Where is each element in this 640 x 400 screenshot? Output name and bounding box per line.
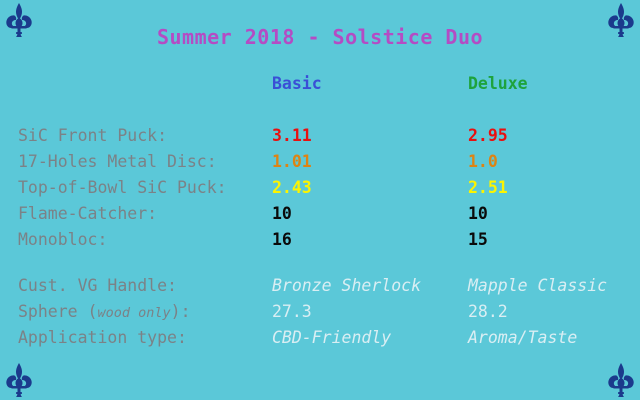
fleur-de-lis-icon (606, 362, 636, 398)
page-title: Summer 2018 - Solstice Duo (0, 25, 640, 49)
spec-row-label: Sphere (wood only): (18, 302, 272, 321)
row-label: Top-of-Bowl SiC Puck: (18, 178, 272, 197)
spec-value-deluxe: Mapple Classic (468, 276, 640, 295)
table-row: Top-of-Bowl SiC Puck: 2.43 2.51 (18, 178, 628, 204)
row-value-basic: 10 (272, 204, 468, 223)
column-header-deluxe: Deluxe (468, 74, 640, 93)
row-label: Monobloc: (18, 230, 272, 249)
comparison-sheet: Summer 2018 - Solstice Duo Basic Deluxe … (0, 0, 640, 400)
row-label: Flame-Catcher: (18, 204, 272, 223)
row-label: SiC Front Puck: (18, 126, 272, 145)
spec-value-basic: CBD-Friendly (272, 328, 468, 347)
fleur-de-lis-icon (4, 362, 34, 398)
row-value-basic: 3.11 (272, 126, 468, 145)
table-header-row: Basic Deluxe (18, 74, 628, 106)
row-value-deluxe: 2.51 (468, 178, 640, 197)
row-value-deluxe: 1.0 (468, 152, 640, 171)
spec-value-basic: Bronze Sherlock (272, 276, 468, 295)
table-row: 17-Holes Metal Disc: 1.01 1.0 (18, 152, 628, 178)
row-label: 17-Holes Metal Disc: (18, 152, 272, 171)
table-row: Flame-Catcher: 10 10 (18, 204, 628, 230)
spec-value-deluxe: Aroma/Taste (468, 328, 640, 347)
spec-label-paren-open: ( (88, 302, 98, 321)
table-row: Monobloc: 16 15 (18, 230, 628, 256)
header-spacer (18, 106, 628, 126)
spec-row: Application type: CBD-Friendly Aroma/Tas… (18, 328, 628, 354)
section-spacer (18, 256, 628, 276)
comparison-table: Basic Deluxe SiC Front Puck: 3.11 2.95 1… (18, 74, 628, 354)
row-value-deluxe: 15 (468, 230, 640, 249)
row-value-deluxe: 2.95 (468, 126, 640, 145)
spec-label-paren-close: ) (171, 302, 181, 321)
row-value-basic: 2.43 (272, 178, 468, 197)
row-value-basic: 1.01 (272, 152, 468, 171)
row-value-basic: 16 (272, 230, 468, 249)
spec-label-note: wood only (97, 305, 170, 321)
column-header-basic: Basic (272, 74, 468, 93)
spec-label-tail: : (181, 302, 191, 321)
spec-value-deluxe: 28.2 (468, 302, 640, 321)
spec-label-main: Sphere (18, 302, 88, 321)
spec-row-label: Application type: (18, 328, 272, 347)
spec-row: Cust. VG Handle: Bronze Sherlock Mapple … (18, 276, 628, 302)
spec-row-label: Cust. VG Handle: (18, 276, 272, 295)
spec-row: Sphere (wood only): 27.3 28.2 (18, 302, 628, 328)
table-row: SiC Front Puck: 3.11 2.95 (18, 126, 628, 152)
row-value-deluxe: 10 (468, 204, 640, 223)
spec-value-basic: 27.3 (272, 302, 468, 321)
